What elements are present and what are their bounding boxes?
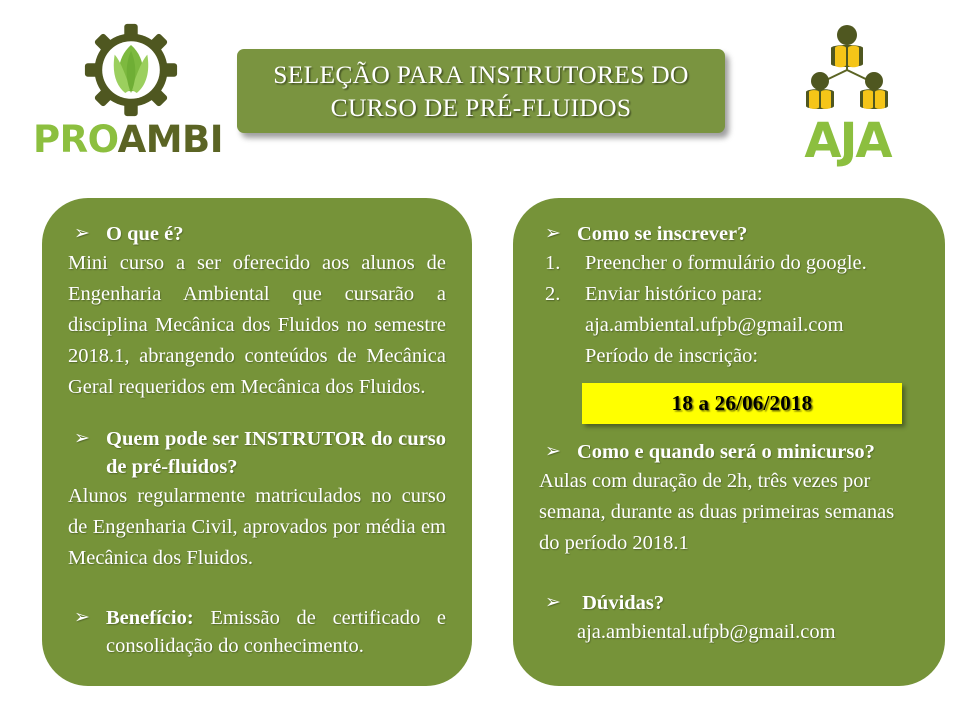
left-block-who-can: ➢Quem pode ser INSTRUTOR do curso de pré… xyxy=(68,425,446,574)
left-info-panel: ➢O que é? Mini curso a ser oferecido aos… xyxy=(42,198,472,686)
spacer xyxy=(539,559,919,589)
left-heading-who-can: ➢Quem pode ser INSTRUTOR do curso de pré… xyxy=(68,425,446,481)
arrow-bullet-icon: ➢ xyxy=(545,589,561,617)
questions-email-address[interactable]: aja.ambiental.ufpb@gmail.com xyxy=(539,617,919,648)
right-heading-questions: ➢ Dúvidas? xyxy=(539,589,919,617)
left-body-what-is: Mini curso a ser oferecido aos alunos de… xyxy=(68,248,446,403)
right-heading-when-how-text: Como e quando será o minicurso? xyxy=(577,441,875,463)
left-block-what-is: ➢O que é? Mini curso a ser oferecido aos… xyxy=(68,220,446,403)
enroll-step-1-text: Preencher o formulário do google. xyxy=(585,252,867,274)
aja-logo: AJA xyxy=(770,22,925,167)
left-block-benefit: ➢Benefício: Emissão de certificado e con… xyxy=(68,604,446,660)
proambi-wordmark-pro: PRO xyxy=(33,118,118,161)
gear-leaf-icon xyxy=(83,22,179,118)
arrow-bullet-icon: ➢ xyxy=(545,438,561,466)
enroll-step-1: 1.Preencher o formulário do google. xyxy=(539,248,919,279)
enroll-step-2-number: 2. xyxy=(545,279,560,310)
arrow-bullet-icon: ➢ xyxy=(74,604,90,632)
right-block-questions: ➢ Dúvidas? aja.ambiental.ufpb@gmail.com xyxy=(539,589,919,648)
enrollment-period-dates: 18 a 26/06/2018 xyxy=(672,391,813,416)
title-banner: SELEÇÃO PARA INSTRUTORES DO CURSO DE PRÉ… xyxy=(237,49,725,133)
left-body-who-can: Alunos regularmente matriculados no curs… xyxy=(68,481,446,574)
enrollment-period-highlight: 18 a 26/06/2018 xyxy=(582,383,902,424)
right-heading-questions-text: Dúvidas? xyxy=(582,592,664,614)
people-books-network-icon xyxy=(787,22,907,117)
left-heading-what-is: ➢O que é? xyxy=(68,220,446,248)
arrow-bullet-icon: ➢ xyxy=(74,425,90,453)
enroll-step-1-number: 1. xyxy=(545,248,560,279)
right-info-panel: ➢Como se inscrever? 1.Preencher o formul… xyxy=(513,198,945,686)
left-heading-who-can-text: Quem pode ser INSTRUTOR do curso de pré-… xyxy=(106,428,446,478)
proambi-wordmark-ambi: AMBI xyxy=(118,118,223,161)
arrow-bullet-icon: ➢ xyxy=(545,220,561,248)
proambi-wordmark: PROAMBI xyxy=(28,118,228,162)
enroll-email-address[interactable]: aja.ambiental.ufpb@gmail.com xyxy=(539,310,919,341)
right-block-when-how: ➢Como e quando será o minicurso? Aulas c… xyxy=(539,438,919,559)
enroll-step-2-text: Enviar histórico para: xyxy=(585,283,763,305)
right-heading-when-how: ➢Como e quando será o minicurso? xyxy=(539,438,919,466)
right-block-how-to-enroll: ➢Como se inscrever? 1.Preencher o formul… xyxy=(539,220,919,424)
page-title: SELEÇÃO PARA INSTRUTORES DO CURSO DE PRÉ… xyxy=(273,58,688,124)
left-heading-benefit-label: Benefício: xyxy=(106,607,194,629)
arrow-bullet-icon: ➢ xyxy=(74,220,90,248)
right-body-when-how: Aulas com duração de 2h, três vezes por … xyxy=(539,466,919,559)
right-heading-how-to-enroll-text: Como se inscrever? xyxy=(577,223,747,245)
header: PROAMBI SELEÇÃO PARA INSTRUTORES DO CURS… xyxy=(0,0,960,185)
right-heading-how-to-enroll: ➢Como se inscrever? xyxy=(539,220,919,248)
spacer xyxy=(68,574,446,604)
aja-wordmark: AJA xyxy=(770,114,925,168)
proambi-logo: PROAMBI xyxy=(28,22,228,162)
left-heading-what-is-text: O que é? xyxy=(106,223,183,245)
enroll-period-label: Período de inscrição: xyxy=(539,341,919,372)
spacer xyxy=(68,403,446,425)
enroll-step-2: 2.Enviar histórico para: xyxy=(539,279,919,310)
left-heading-benefit: ➢Benefício: Emissão de certificado e con… xyxy=(68,604,446,660)
spacer xyxy=(539,424,919,438)
